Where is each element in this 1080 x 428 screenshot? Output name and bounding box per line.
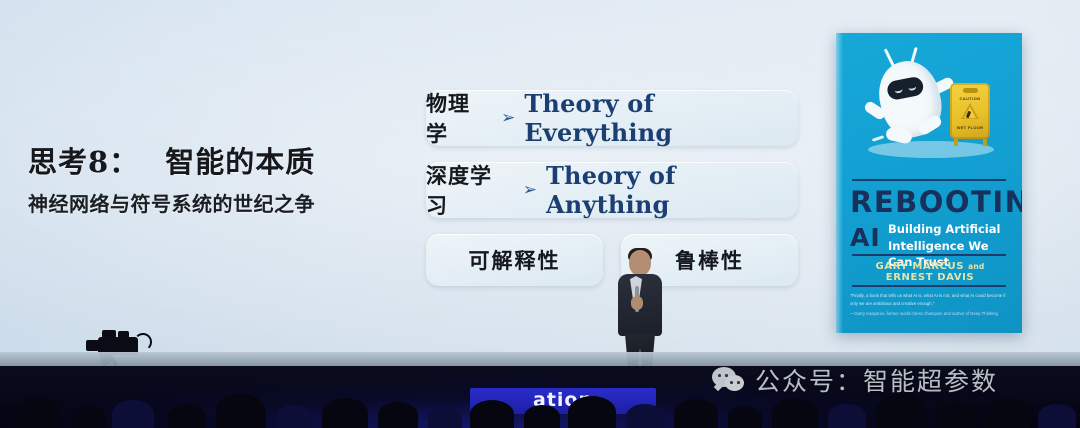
speaker-head xyxy=(629,250,651,276)
sign-wet-floor-text: WET FLOOR xyxy=(954,125,986,130)
book-divider-top xyxy=(852,179,1006,181)
sign-caution-text: CAUTION xyxy=(954,96,986,101)
book-divider-bottom xyxy=(852,285,1006,287)
audience-head xyxy=(322,398,368,428)
audience-head xyxy=(674,399,718,428)
audience-head xyxy=(378,402,418,428)
speaker-hands xyxy=(631,296,643,310)
arrow-icon: ➢ xyxy=(501,108,515,128)
book-author-first: GARY MARCUS xyxy=(876,261,964,272)
audience-head xyxy=(112,400,154,428)
audience-head xyxy=(986,399,1030,428)
robot-icon xyxy=(872,55,949,143)
wechat-icon xyxy=(712,367,746,393)
audience-head xyxy=(568,396,616,428)
splash-mark xyxy=(872,135,884,142)
audience-head xyxy=(772,398,818,428)
book-cover-illustration: CAUTION WET FLOOR xyxy=(836,37,1022,169)
audience-head xyxy=(428,407,462,428)
audience-head xyxy=(470,400,514,428)
audience-head xyxy=(168,404,206,428)
sign-leg-left xyxy=(954,139,958,146)
slide-title-block: 思考8：智能的本质 神经网络与符号系统的世纪之争 xyxy=(28,147,368,217)
book-blurb-text: "Finally, a book that tells us what AI i… xyxy=(850,293,1006,306)
robot-eye-left xyxy=(894,85,903,93)
book-blurb: "Finally, a book that tells us what AI i… xyxy=(850,292,1010,318)
camera-boom-arm xyxy=(134,333,152,351)
conference-photo: 思考8：智能的本质 神经网络与符号系统的世纪之争 物理学 ➢ Theory of… xyxy=(0,0,1080,428)
title-left: 思考8： xyxy=(28,145,139,179)
box-deep-learning: 深度学习 ➢ Theory of Anything xyxy=(426,162,798,218)
box-physics: 物理学 ➢ Theory of Everything xyxy=(426,90,798,146)
book-cover-rebooting-ai: CAUTION WET FLOOR REBOOTING AI Building … xyxy=(836,33,1022,333)
wechat-bubble-small xyxy=(725,375,744,391)
audience-head xyxy=(728,406,762,428)
camera-lens-icon xyxy=(86,340,102,351)
audience-head xyxy=(14,398,60,428)
slide-subtitle: 神经网络与符号系统的世纪之争 xyxy=(28,188,368,217)
audience-head xyxy=(1038,404,1076,428)
camera-hood xyxy=(102,330,116,338)
robot-eye-right xyxy=(908,83,917,91)
robot-visor xyxy=(886,76,925,102)
audience-head xyxy=(936,402,976,428)
audience-head xyxy=(276,405,312,428)
box-robustness-label: 鲁棒性 xyxy=(675,245,744,275)
audience-head xyxy=(876,395,926,428)
audience-head xyxy=(626,404,664,428)
book-blurb-source: —Garry Kasparov, former world chess cham… xyxy=(850,310,1010,318)
box-interpretability: 可解释性 xyxy=(426,234,603,286)
sign-leg-right xyxy=(983,139,987,146)
book-author-and: and xyxy=(968,262,984,271)
box-deep-learning-en: Theory of Anything xyxy=(546,161,798,219)
audience-head xyxy=(524,405,560,428)
book-title: REBOOTING xyxy=(850,188,1012,217)
box-interpretability-label: 可解释性 xyxy=(469,245,561,275)
projection-screen: 思考8：智能的本质 神经网络与符号系统的世纪之争 物理学 ➢ Theory of… xyxy=(0,0,1080,370)
watermark: 公众号：智能超参数 xyxy=(712,362,998,398)
audience-head xyxy=(216,394,266,428)
arrow-icon: ➢ xyxy=(523,180,537,200)
box-deep-learning-cn: 深度学习 xyxy=(426,160,511,220)
book-authors: GARY MARCUS and ERNEST DAVIS xyxy=(850,261,1010,283)
box-physics-en: Theory of Everything xyxy=(524,89,798,147)
audience-head xyxy=(828,404,866,428)
book-author-second: ERNEST DAVIS xyxy=(886,272,974,283)
page-title: 思考8：智能的本质 xyxy=(28,147,368,179)
book-title-ai: AI xyxy=(850,223,881,252)
sign-handle xyxy=(963,88,978,93)
camera-monitor xyxy=(118,331,129,339)
watermark-text: 公众号：智能超参数 xyxy=(755,362,998,398)
book-divider-mid xyxy=(852,254,1006,256)
title-right: 智能的本质 xyxy=(165,145,315,179)
book-subtitle-line1: Building Artificial xyxy=(888,222,1000,236)
box-physics-cn: 物理学 xyxy=(426,88,489,148)
wet-floor-sign-icon: CAUTION WET FLOOR xyxy=(950,83,994,145)
audience-head xyxy=(72,406,106,428)
